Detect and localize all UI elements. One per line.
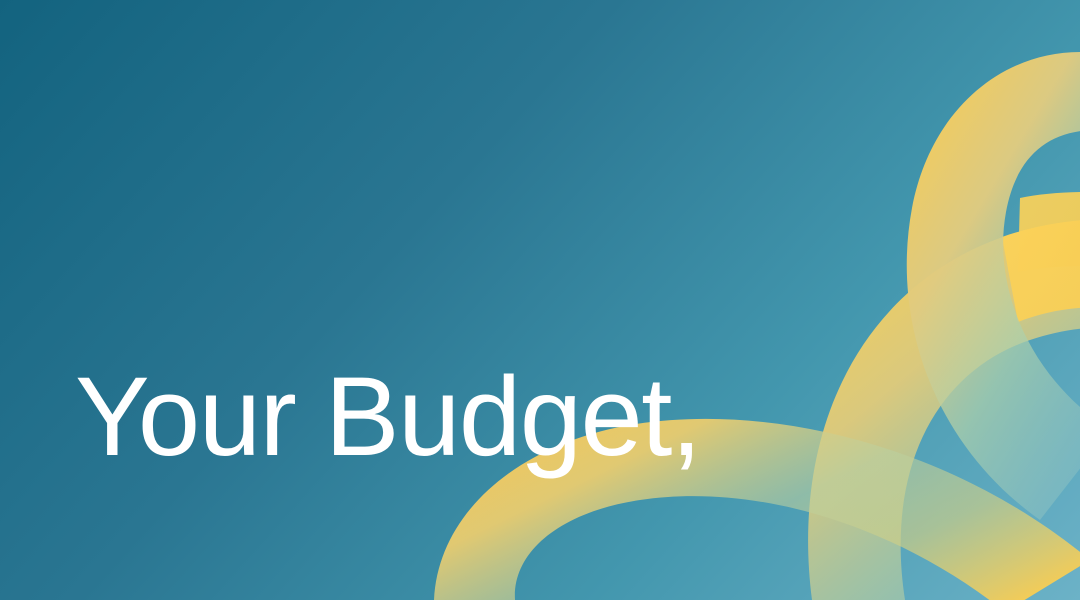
ribbon-arc-lower-icon [808, 219, 1080, 600]
headline-line-1: Your Budget, [75, 359, 701, 474]
ribbon-highlight-lower-icon [1002, 220, 1080, 322]
ribbon-highlight-upper-icon [1018, 192, 1080, 272]
page-title: Your Budget, Your Rules [75, 128, 701, 600]
hero-text-block: Your Budget, Your Rules Making a Plan Th… [75, 128, 701, 600]
ribbon-arc-upper-icon [907, 52, 1080, 520]
slide-canvas: Your Budget, Your Rules Making a Plan Th… [0, 0, 1080, 600]
